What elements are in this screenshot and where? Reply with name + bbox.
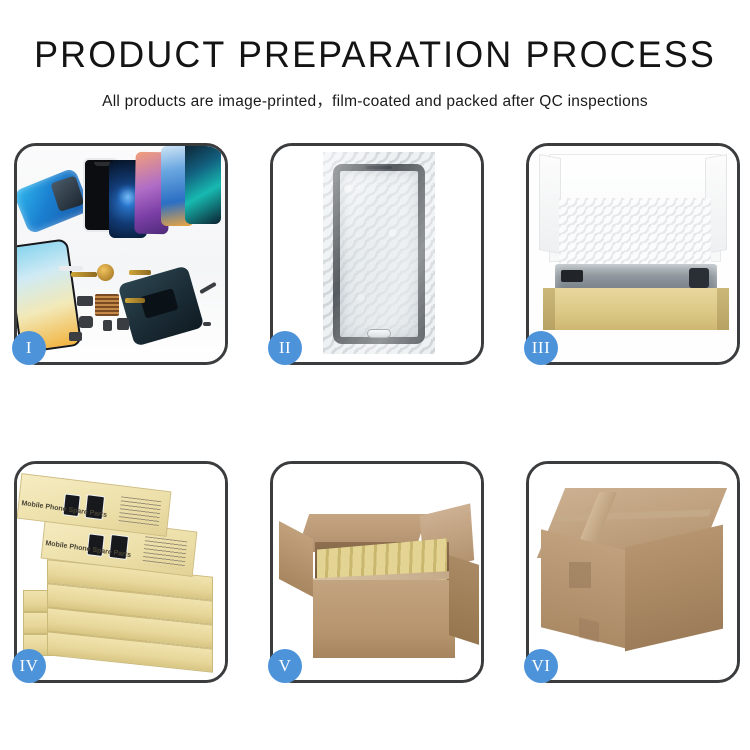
teal-gradient-phone-icon [185, 146, 221, 224]
process-steps-grid: I II III [14, 143, 736, 683]
connector-icon [77, 296, 93, 306]
carton-tape-patch-icon [569, 562, 591, 588]
phone-back-housing-icon [118, 265, 205, 346]
mesh-chip-icon [95, 294, 119, 316]
step-badge-6: VI [524, 649, 558, 683]
flex-cable-icon [125, 298, 145, 303]
step-panel-6: VI [526, 461, 740, 683]
home-button-icon [367, 329, 391, 338]
tweezers-icon [199, 282, 217, 294]
step-panel-3: III [526, 143, 740, 365]
flex-cable-icon [71, 272, 97, 277]
box-flap-left-icon [539, 154, 561, 254]
step-image-sealed-shipping-carton [529, 464, 737, 680]
box-spec-lines [142, 536, 187, 569]
step-image-stacked-retail-boxes: Mobile Phone Spare Parts Mobile Phone Sp… [17, 464, 225, 680]
carton-front-panel-icon [313, 580, 455, 658]
step-badge-3: III [524, 331, 558, 365]
speaker-module-icon [97, 264, 114, 281]
page-subtitle: All products are image-printed，film-coat… [0, 89, 750, 111]
blue-adhesive-film-icon [17, 167, 91, 234]
vibration-motor-icon [117, 318, 129, 330]
step-panel-5: V [270, 461, 484, 683]
step-panel-2: II [270, 143, 484, 365]
step-image-boxes-in-open-carton [273, 464, 481, 680]
sim-tray-icon [69, 332, 82, 341]
foam-padding-icon [559, 198, 711, 268]
screw-icon [203, 322, 211, 326]
carton-corner-patch-icon [579, 618, 599, 643]
bubble-wrap-sheet [323, 152, 435, 354]
step-panel-1: I [14, 143, 228, 365]
step-image-bubble-wrapped-screen [273, 146, 481, 362]
step-image-phone-parts-assortment [17, 146, 225, 362]
box-spec-lines [118, 496, 161, 529]
carton-side-panel-icon [449, 555, 479, 645]
product-preparation-process-page: PRODUCT PREPARATION PROCESS All products… [0, 0, 750, 750]
step-badge-5: V [268, 649, 302, 683]
step-badge-4: IV [12, 649, 46, 683]
small-part-icon [103, 320, 112, 331]
camera-module-icon [79, 316, 93, 328]
step-panel-4: Mobile Phone Spare Parts Mobile Phone Sp… [14, 461, 228, 683]
step-badge-1: I [12, 331, 46, 365]
kraft-box-front-icon [543, 288, 729, 330]
white-strip-icon [59, 266, 83, 271]
phone-screen-glass-icon [333, 164, 425, 344]
step-badge-2: II [268, 331, 302, 365]
retail-box-stack: Mobile Phone Spare Parts Mobile Phone Sp… [17, 464, 225, 680]
page-header: PRODUCT PREPARATION PROCESS All products… [0, 0, 750, 111]
page-title: PRODUCT PREPARATION PROCESS [11, 36, 739, 75]
flex-cable-icon [129, 270, 151, 275]
step-image-screen-in-open-kraft-box [529, 146, 737, 362]
carton-right-panel-icon [625, 525, 723, 652]
